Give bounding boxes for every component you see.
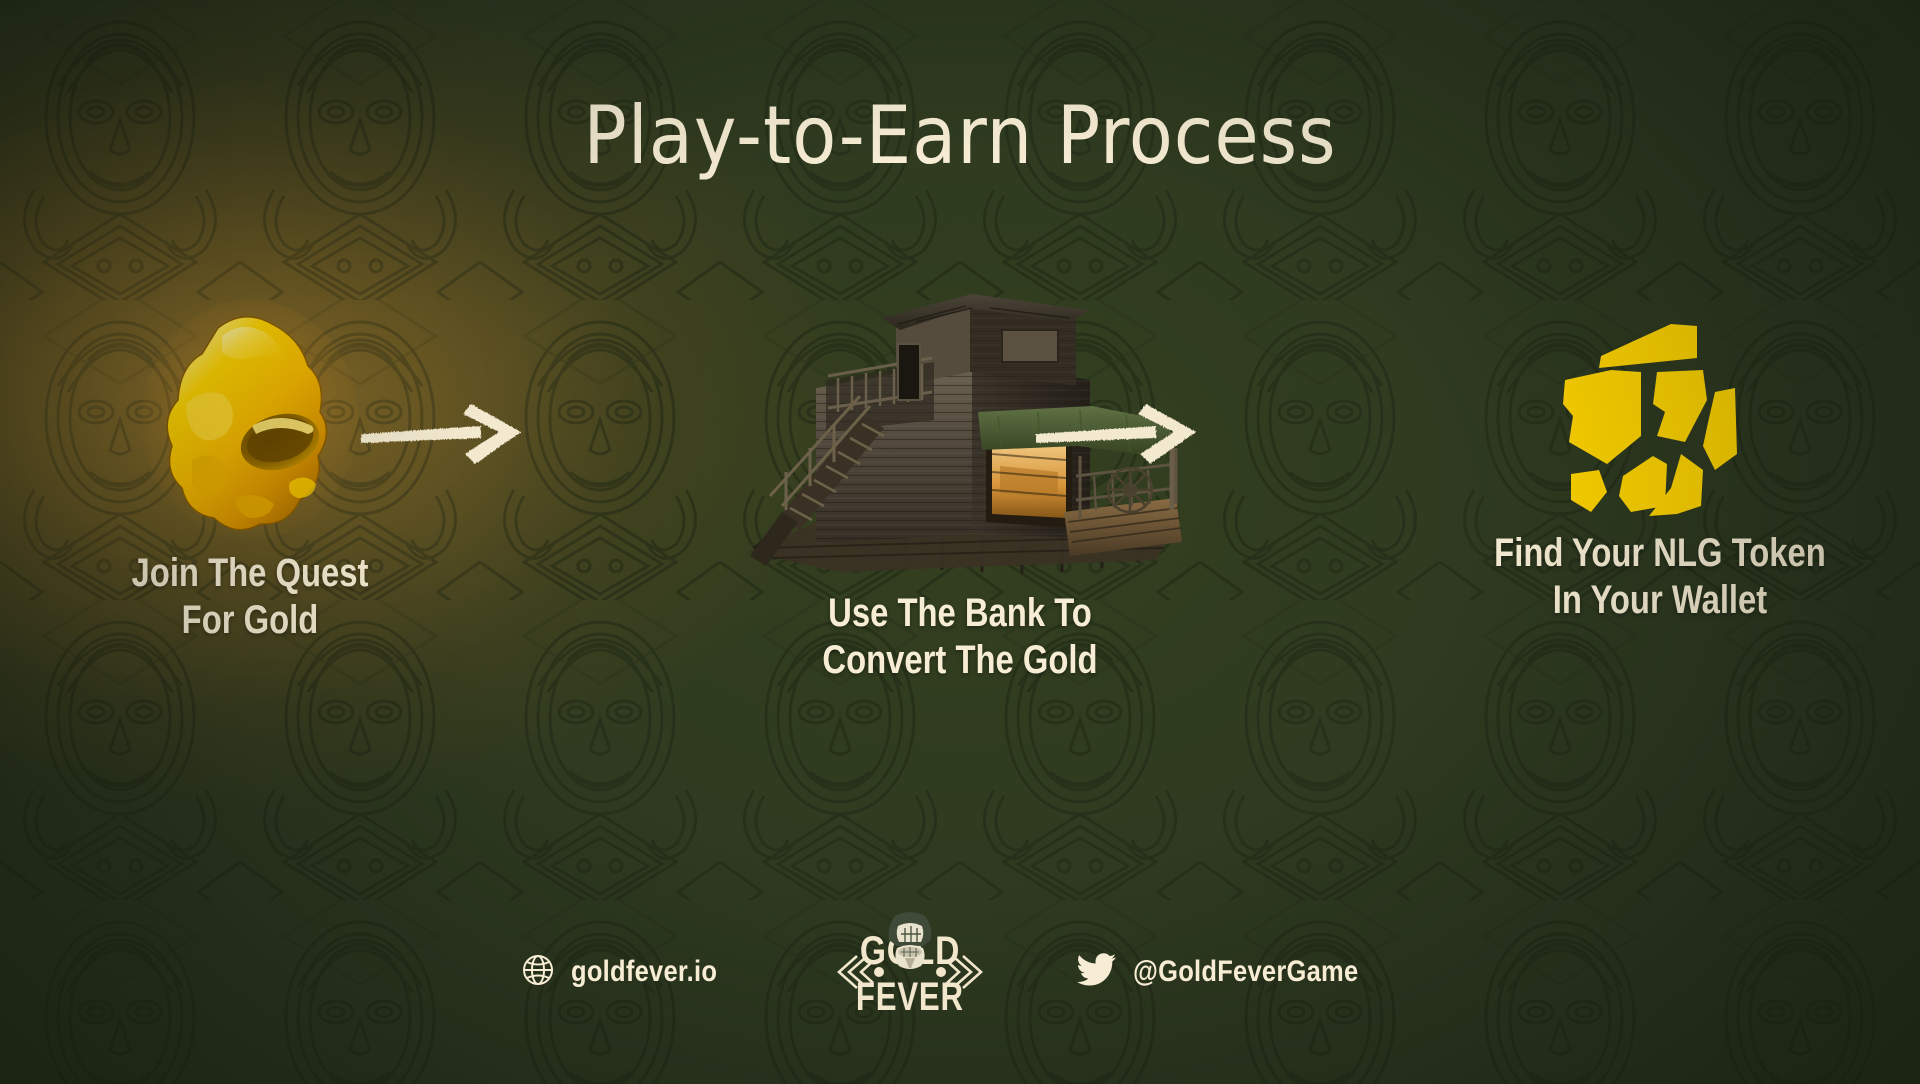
arrow-right-icon: [355, 390, 535, 470]
step-1: Join The Quest For Gold: [30, 300, 470, 644]
step-3-caption: Find Your NLG Token In Your Wallet: [1471, 530, 1848, 624]
step-2: Use The Bank To Convert The Gold: [600, 260, 1320, 684]
arrow-right-icon: [1030, 390, 1210, 470]
website-label: goldfever.io: [571, 955, 717, 989]
twitter-link[interactable]: @GoldFeverGame: [1077, 953, 1398, 992]
step-1-caption: Join The Quest For Gold: [70, 550, 431, 644]
website-link[interactable]: goldfever.io: [521, 953, 743, 992]
step-2-caption: Use The Bank To Convert The Gold: [665, 590, 1255, 684]
footer-bar: goldfever.io GOLD FEVER: [0, 912, 1920, 1032]
nlg-token-logo: [1545, 300, 1775, 530]
globe-icon: [521, 953, 555, 992]
twitter-label: @GoldFeverGame: [1133, 955, 1358, 989]
gold-fever-logo[interactable]: GOLD FEVER: [835, 912, 985, 1032]
twitter-bird-icon: [1077, 953, 1117, 992]
svg-text:FEVER: FEVER: [856, 974, 964, 1019]
step-3: Find Your NLG Token In Your Wallet: [1430, 300, 1890, 624]
poster-canvas: Play-to-Earn Process: [0, 0, 1920, 1084]
page-title: Play-to-Earn Process: [0, 96, 1920, 176]
gold-nugget-image: [140, 300, 360, 550]
